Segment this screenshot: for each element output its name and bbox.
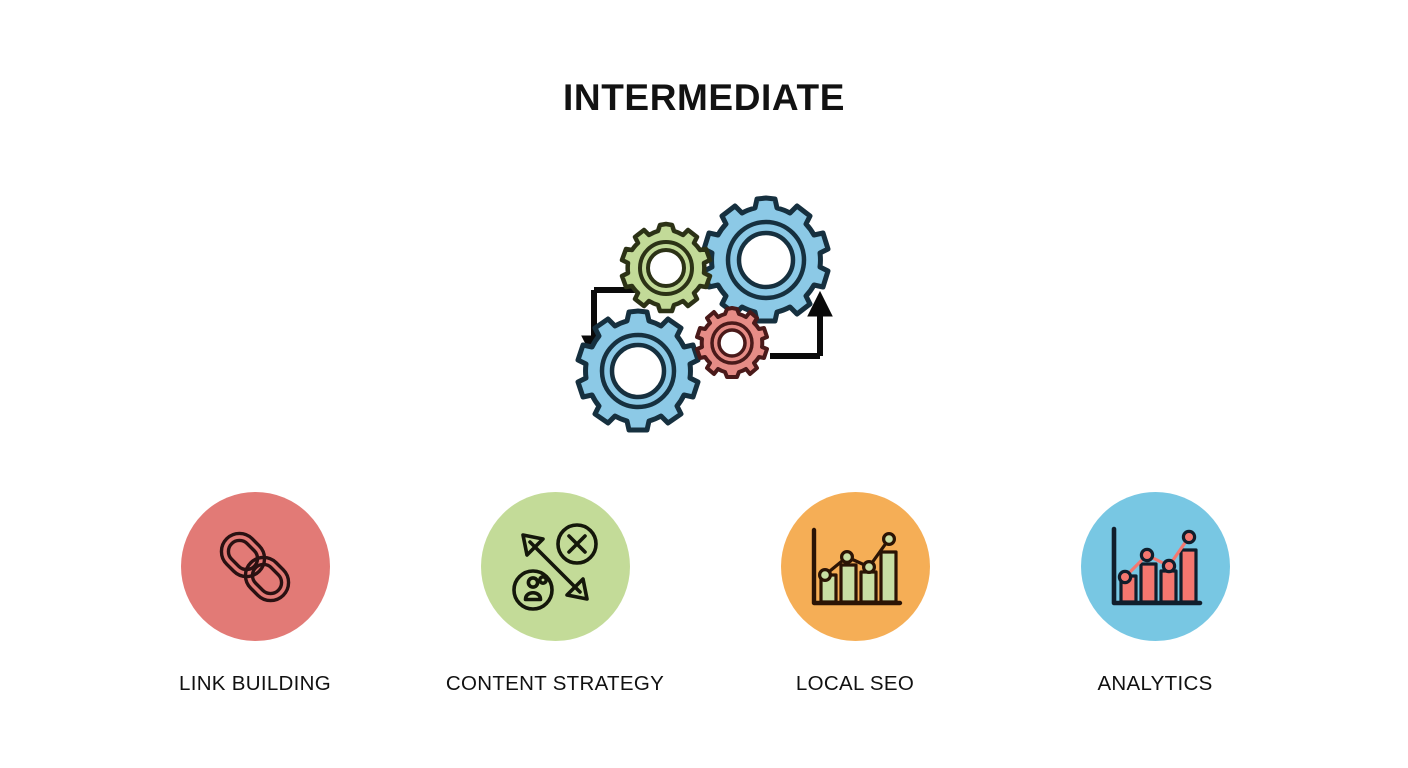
gear-blue-large-bottom-icon — [578, 311, 698, 430]
item-content-strategy-label: CONTENT STRATEGY — [446, 672, 664, 696]
bar-chart-trend-icon — [805, 517, 905, 617]
item-analytics[interactable]: ANALYTICS — [1010, 492, 1300, 696]
analytics-chart-icon — [1105, 517, 1205, 617]
item-local-seo-label: LOCAL SEO — [796, 672, 914, 696]
gear-red-small-icon — [697, 308, 767, 377]
item-link-building[interactable]: LINK BUILDING — [110, 492, 400, 696]
item-link-building-circle[interactable] — [181, 492, 330, 641]
item-local-seo-circle[interactable] — [781, 492, 930, 641]
gears-illustration — [548, 168, 858, 448]
gear-green-medium-icon — [622, 224, 710, 311]
strategy-arrow-icon — [505, 517, 605, 617]
item-content-strategy-circle[interactable] — [481, 492, 630, 641]
slide-canvas: INTERMEDIATE — [0, 0, 1408, 768]
chain-link-icon — [207, 519, 303, 615]
page-title: INTERMEDIATE — [0, 78, 1408, 119]
item-analytics-label: ANALYTICS — [1097, 672, 1212, 696]
item-local-seo[interactable]: LOCAL SEO — [710, 492, 1000, 696]
item-content-strategy[interactable]: CONTENT STRATEGY — [410, 492, 700, 696]
items-row: LINK BUILDING — [110, 492, 1300, 707]
item-analytics-circle[interactable] — [1081, 492, 1230, 641]
gear-blue-large-top-icon — [704, 198, 828, 321]
item-link-building-label: LINK BUILDING — [179, 672, 331, 696]
